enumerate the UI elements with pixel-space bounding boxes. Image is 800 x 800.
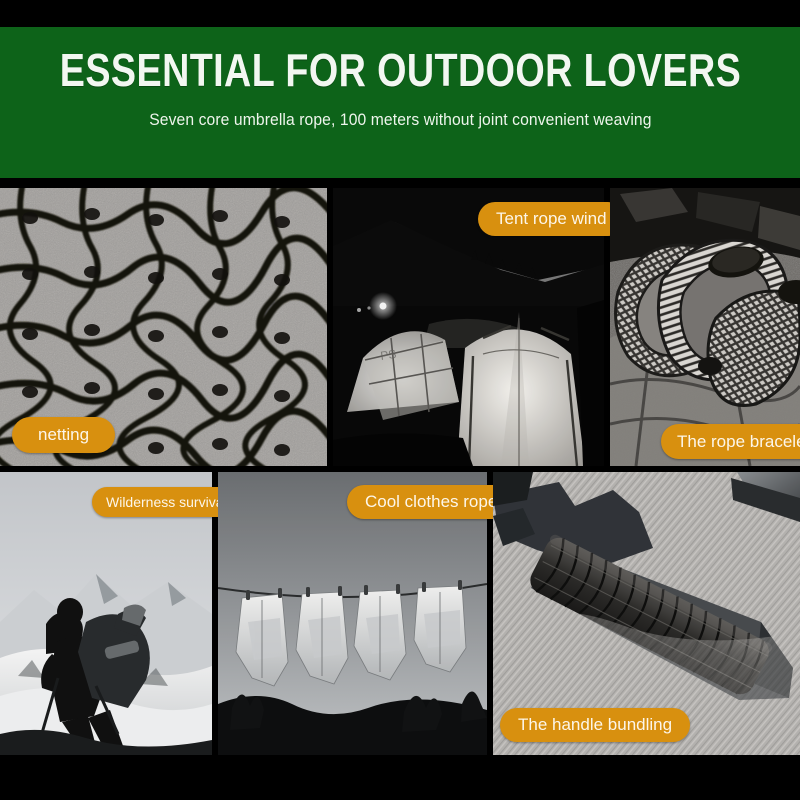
page-subtitle: Seven core umbrella rope, 100 meters wit… (149, 110, 651, 130)
label-netting[interactable]: netting (12, 417, 115, 453)
page-title: ESSENTIAL FOR OUTDOOR LOVERS (59, 44, 740, 96)
label-rope-bracelet[interactable]: The rope bracelet (661, 424, 800, 459)
promo-banner: ESSENTIAL FOR OUTDOOR LOVERS Seven core … (0, 0, 800, 800)
label-tent-rope-wind[interactable]: Tent rope wind (478, 202, 625, 236)
label-cool-clothes-rope[interactable]: Cool clothes rope (347, 485, 515, 519)
label-handle-bundling[interactable]: The handle bundling (500, 708, 690, 742)
header-banner: ESSENTIAL FOR OUTDOOR LOVERS Seven core … (0, 27, 800, 178)
